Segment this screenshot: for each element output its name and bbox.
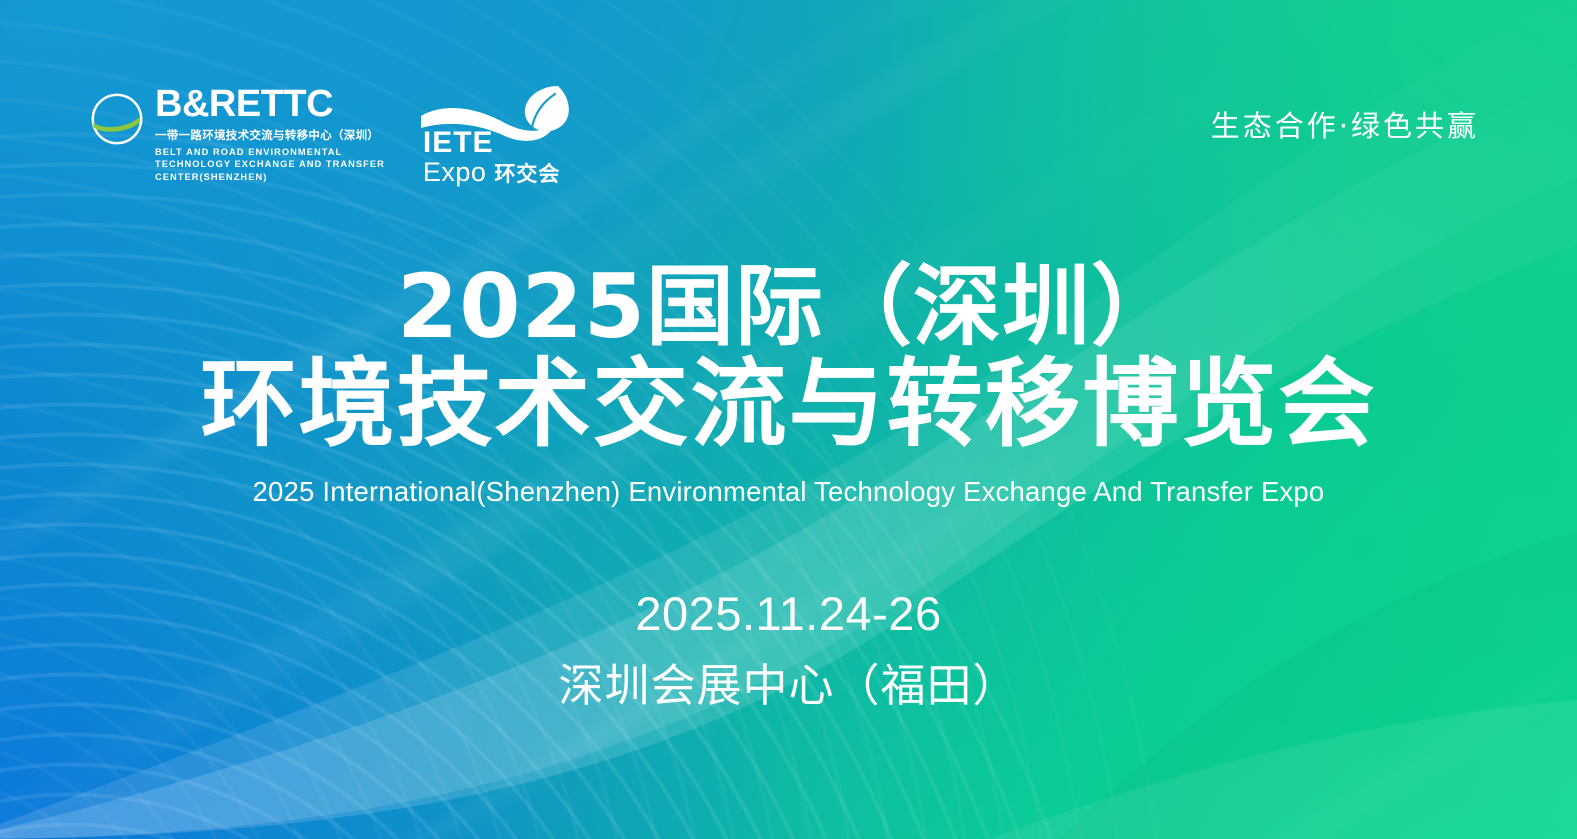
brettc-name-en: BELT AND ROAD ENVIRONMENTAL TECHNOLOGY E… bbox=[155, 146, 385, 183]
brettc-name: B&RETTC bbox=[155, 86, 385, 122]
event-banner: B&RETTC 一带一路环境技术交流与转移中心（深圳） BELT AND ROA… bbox=[0, 0, 1577, 839]
title-cn-line2: 环境技术交流与转移博览会 bbox=[0, 354, 1577, 456]
iete-expo-logo[interactable]: IETE Expo 环交会 bbox=[419, 86, 579, 186]
logo-row: B&RETTC 一带一路环境技术交流与转移中心（深圳） BELT AND ROA… bbox=[88, 86, 579, 186]
title-cn-line1: 2025国际（深圳） bbox=[0, 262, 1577, 352]
globe-ring-icon bbox=[88, 90, 146, 148]
event-venue: 深圳会展中心（福田） bbox=[0, 649, 1577, 714]
brettc-name-en-line3: CENTER(SHENZHEN) bbox=[155, 171, 385, 183]
brettc-name-en-line1: BELT AND ROAD ENVIRONMENTAL bbox=[155, 146, 385, 158]
event-date: 2025.11.24-26 bbox=[0, 586, 1577, 641]
slogan: 生态合作·绿色共赢 bbox=[1211, 103, 1479, 145]
title-en: 2025 International(Shenzhen) Environment… bbox=[0, 476, 1577, 508]
brettc-name-en-line2: TECHNOLOGY EXCHANGE AND TRANSFER bbox=[155, 158, 385, 170]
main-content: 2025国际（深圳） 环境技术交流与转移博览会 2025 Internation… bbox=[0, 262, 1577, 714]
iete-word: Expo bbox=[423, 158, 487, 186]
brettc-name-cn: 一带一路环境技术交流与转移中心（深圳） bbox=[155, 127, 385, 143]
iete-word-cn: 环交会 bbox=[494, 163, 560, 185]
brettc-logo[interactable]: B&RETTC 一带一路环境技术交流与转移中心（深圳） BELT AND ROA… bbox=[88, 86, 385, 183]
iete-abbr: IETE bbox=[423, 128, 561, 158]
